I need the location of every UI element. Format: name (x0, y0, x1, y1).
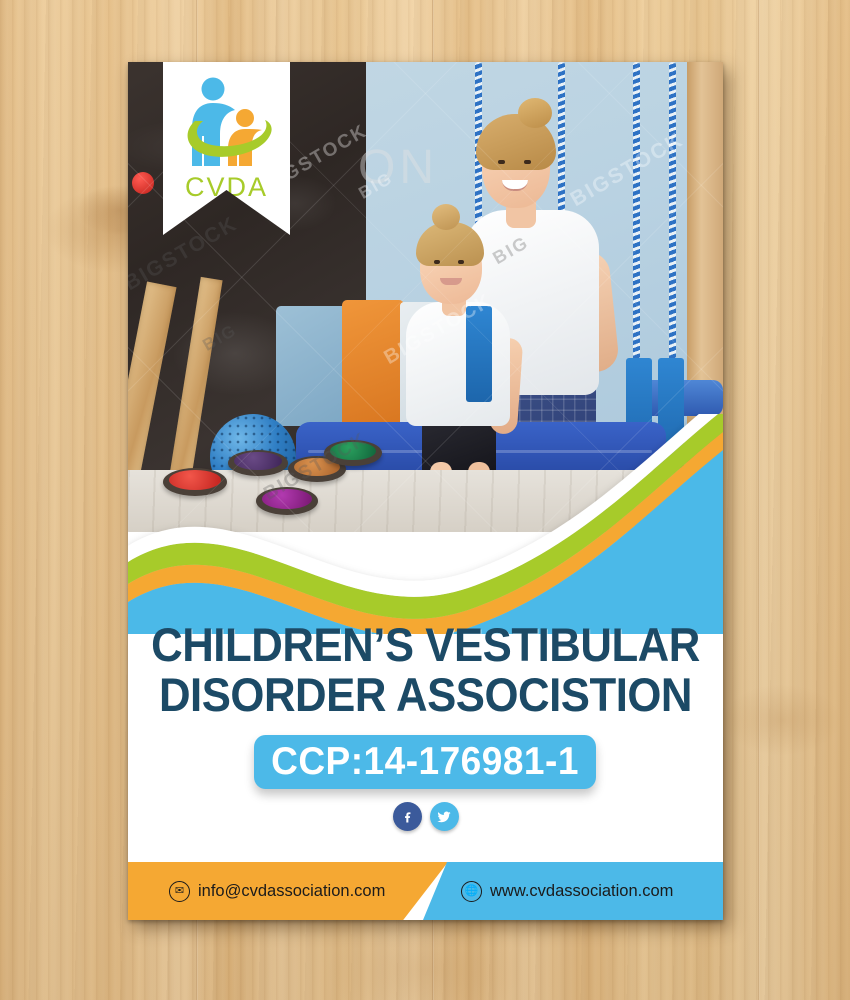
photo-red-knob (132, 172, 154, 194)
decorative-wave (128, 414, 723, 634)
photo-swing-rope (669, 62, 676, 362)
ccp-badge: CCP:14-176981-1 (254, 735, 596, 789)
chalkboard-text: ON (358, 140, 438, 195)
twitter-icon[interactable] (430, 802, 459, 831)
footer-bar: ✉ info@cvdassociation.com 🌐 www.cvdassoc… (128, 862, 723, 920)
footer-email[interactable]: ✉ info@cvdassociation.com (169, 862, 385, 920)
photo-woman-eye (524, 160, 531, 164)
facebook-icon[interactable] (393, 802, 422, 831)
footer-email-text: info@cvdassociation.com (198, 882, 385, 901)
page-title: CHILDREN’S VESTIBULAR DISORDER ASSOCISTI… (149, 620, 702, 720)
photo-mat (342, 300, 404, 428)
photo-child-eye (434, 260, 440, 264)
photo-woman-eye (498, 160, 505, 164)
photo-mat (276, 306, 350, 426)
photo-swing-rope (633, 62, 640, 362)
social-links (128, 802, 723, 831)
photo-swing-rope (558, 62, 565, 232)
footer-website[interactable]: 🌐 www.cvdassociation.com (461, 862, 673, 920)
title-line-2: DISORDER ASSOCISTION (149, 670, 702, 720)
footer-website-text: www.cvdassociation.com (490, 882, 673, 901)
envelope-icon: ✉ (169, 881, 190, 902)
photo-child-smile (440, 278, 462, 285)
flyer-poster: ON (128, 62, 723, 920)
photo-swing-strap (466, 306, 492, 402)
photo-child-torso (406, 302, 510, 426)
photo-child-eye (458, 260, 464, 264)
wood-plank-seam (758, 0, 760, 1000)
photo-woman-hair-bun (518, 98, 552, 128)
globe-icon: 🌐 (461, 881, 482, 902)
screenshot-stage: ON (0, 0, 850, 1000)
adult-and-child-figures-with-swoosh-icon (173, 76, 280, 172)
photo-child-hair-bun (432, 204, 460, 230)
title-line-1: CHILDREN’S VESTIBULAR (149, 620, 702, 670)
